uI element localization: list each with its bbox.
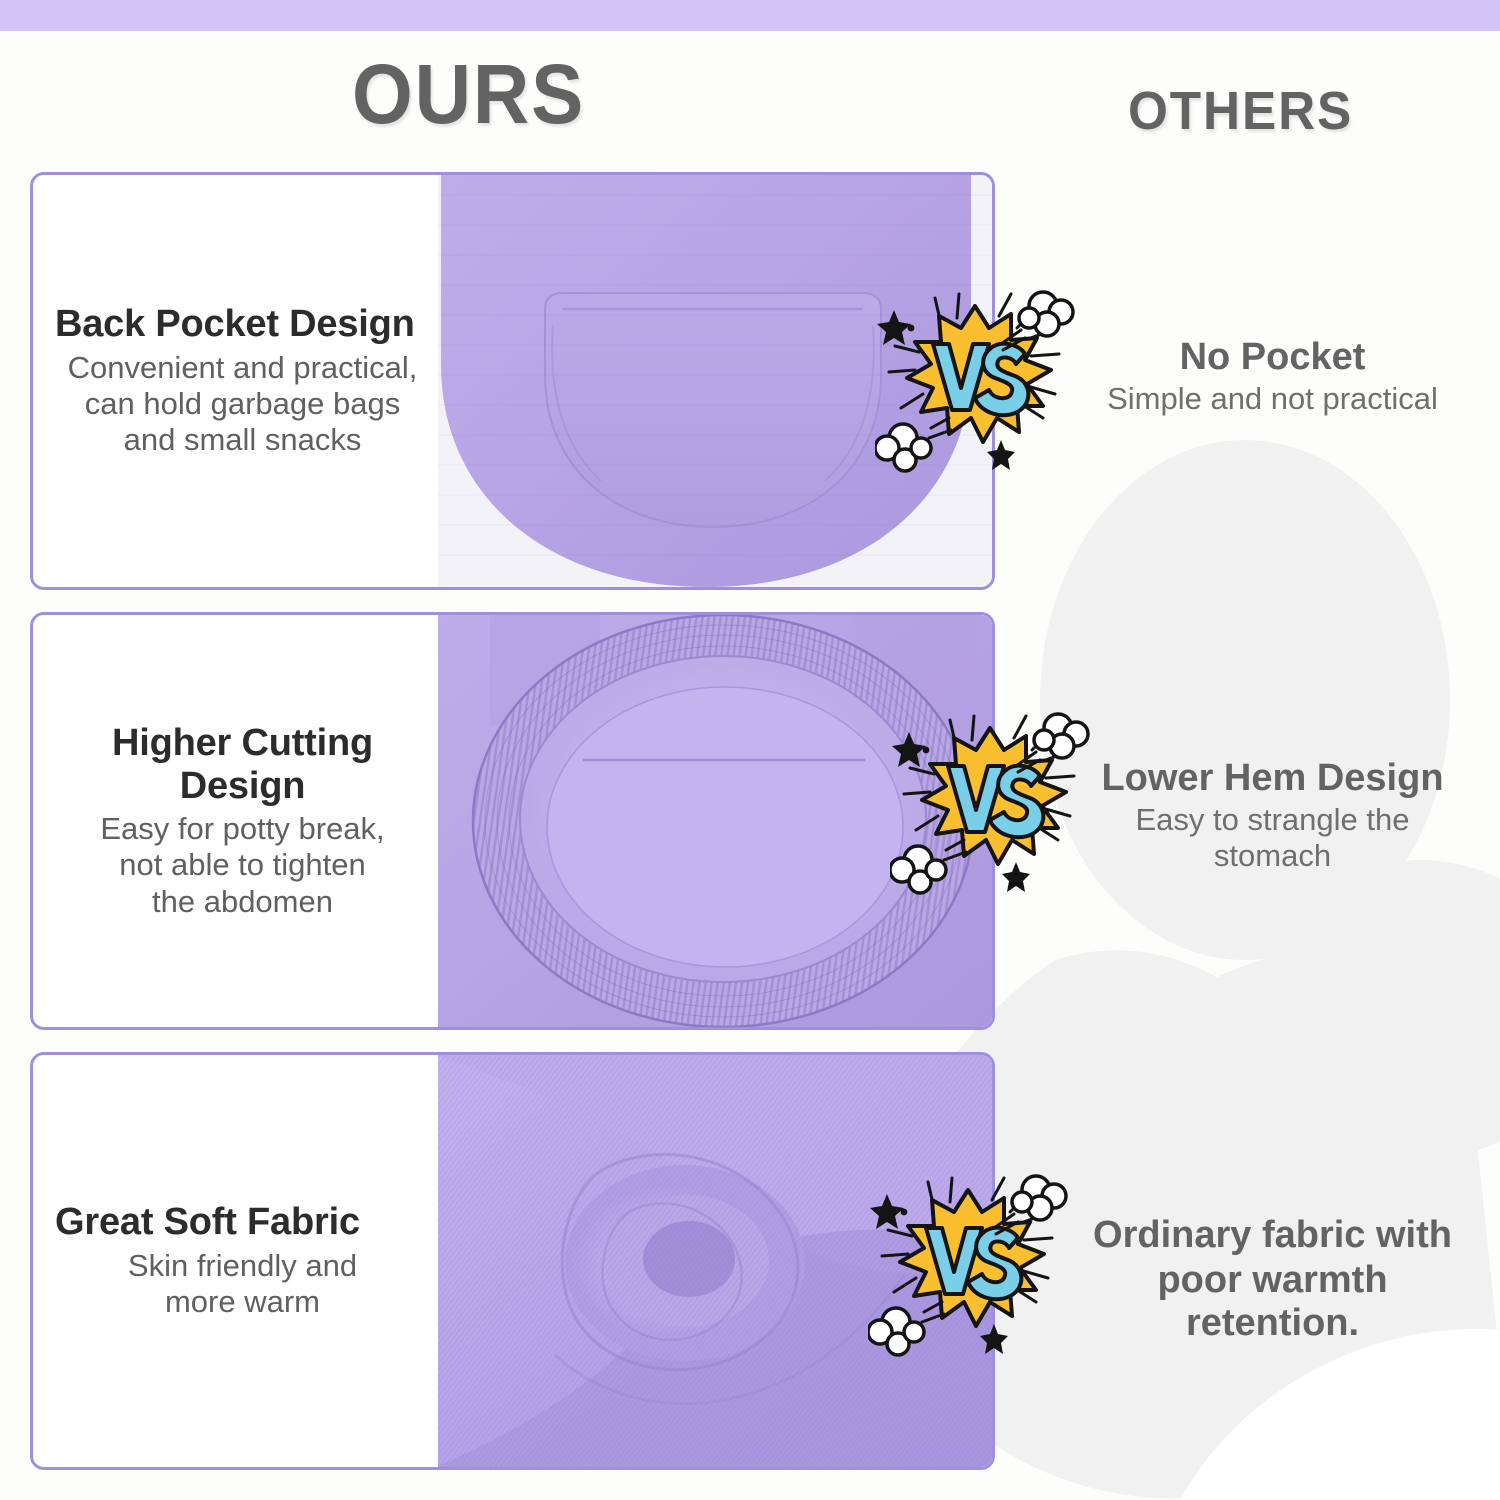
others-text-block: Ordinary fabric with poor warmthretentio…	[1060, 1214, 1485, 1345]
others-text-block: Lower Hem Design Easy to strangle thesto…	[1060, 757, 1485, 874]
ours-description: Skin friendly andmore warm	[55, 1248, 430, 1321]
others-text-block: No Pocket Simple and not practical	[1060, 336, 1485, 417]
ours-text-pane: Higher CuttingDesign Easy for potty brea…	[33, 615, 438, 1027]
vs-badge-icon	[868, 1162, 1068, 1362]
vs-badge-icon	[890, 700, 1090, 900]
ours-title: Higher CuttingDesign	[55, 722, 430, 807]
ours-text-pane: Back Pocket Design Convenient and practi…	[33, 175, 438, 587]
ours-description: Convenient and practical,can hold garbag…	[55, 350, 430, 459]
others-description: poor warmthretention.	[1060, 1259, 1485, 1345]
others-title: No Pocket	[1060, 336, 1485, 379]
others-title: Ordinary fabric with	[1060, 1214, 1485, 1257]
ours-title: Great Soft Fabric	[55, 1201, 430, 1244]
others-title: Lower Hem Design	[1060, 757, 1485, 800]
ours-title: Back Pocket Design	[55, 303, 430, 346]
top-accent-band	[0, 0, 1500, 31]
comparison-row: Higher CuttingDesign Easy for potty brea…	[30, 612, 995, 1030]
page-title-others: OTHERS	[1128, 84, 1353, 138]
page-title-ours: OURS	[352, 52, 585, 136]
ours-text-pane: Great Soft Fabric Skin friendly andmore …	[33, 1055, 438, 1467]
ours-description: Easy for potty break,not able to tighten…	[55, 811, 430, 920]
others-description: Easy to strangle thestomach	[1060, 802, 1485, 874]
vs-badge-icon	[875, 278, 1075, 478]
comparison-row: Back Pocket Design Convenient and practi…	[30, 172, 995, 590]
others-description: Simple and not practical	[1060, 381, 1485, 417]
comparison-infographic: OURS OTHERS Back Pocket Design Convenien…	[0, 0, 1500, 1500]
comparison-row: Great Soft Fabric Skin friendly andmore …	[30, 1052, 995, 1470]
